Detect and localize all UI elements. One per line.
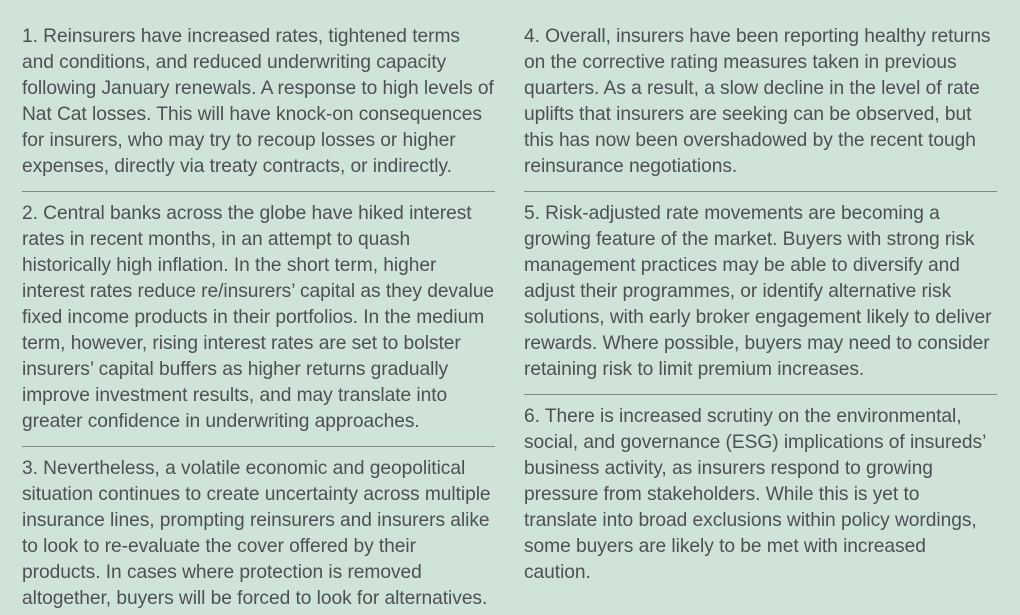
paragraph-divider-5 <box>524 394 997 395</box>
paragraph-block-3: 3. Nevertheless, a volatile economic and… <box>22 456 495 612</box>
paragraph-text-3: 3. Nevertheless, a volatile economic and… <box>22 456 495 612</box>
paragraph-divider-2 <box>22 446 495 447</box>
paragraph-block-5: 5. Risk-adjusted rate movements are beco… <box>524 201 997 383</box>
paragraph-text-5: 5. Risk-adjusted rate movements are beco… <box>524 201 997 383</box>
paragraph-block-1: 1. Reinsurers have increased rates, tigh… <box>22 24 495 180</box>
paragraph-block-2: 2. Central banks across the globe have h… <box>22 201 495 435</box>
paragraph-text-1: 1. Reinsurers have increased rates, tigh… <box>22 24 495 180</box>
paragraph-divider-1 <box>22 191 495 192</box>
paragraph-block-6: 6. There is increased scrutiny on the en… <box>524 404 997 586</box>
paragraph-divider-4 <box>524 191 997 192</box>
document-page: 1. Reinsurers have increased rates, tigh… <box>0 0 1020 615</box>
paragraph-text-4: 4. Overall, insurers have been reporting… <box>524 24 997 180</box>
paragraph-block-4: 4. Overall, insurers have been reporting… <box>524 24 997 180</box>
paragraph-text-6: 6. There is increased scrutiny on the en… <box>524 404 997 586</box>
paragraph-text-2: 2. Central banks across the globe have h… <box>22 201 495 435</box>
right-column: 4. Overall, insurers have been reporting… <box>524 22 997 586</box>
left-column: 1. Reinsurers have increased rates, tigh… <box>22 22 495 612</box>
